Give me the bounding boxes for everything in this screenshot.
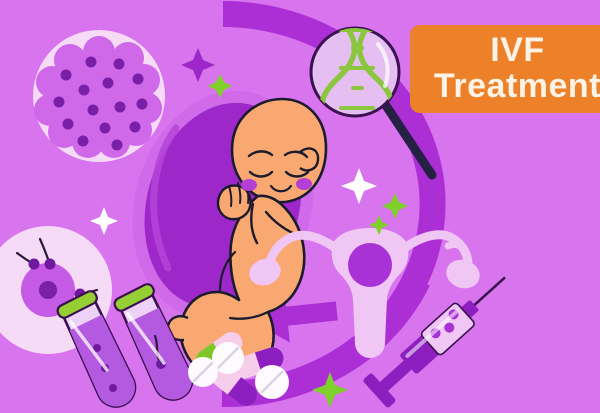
illustration-canvas: IVF Treatment (0, 0, 600, 413)
banner-title-line1: IVF (490, 32, 544, 68)
ovum-cell (33, 30, 165, 162)
ivf-treatment-banner: IVF Treatment (410, 25, 600, 113)
pill-tablet-3 (255, 365, 289, 399)
pill-tablet-2 (188, 357, 218, 387)
banner-title-line2: Treatment (434, 68, 600, 104)
uterus-embryo-dot (348, 243, 392, 287)
